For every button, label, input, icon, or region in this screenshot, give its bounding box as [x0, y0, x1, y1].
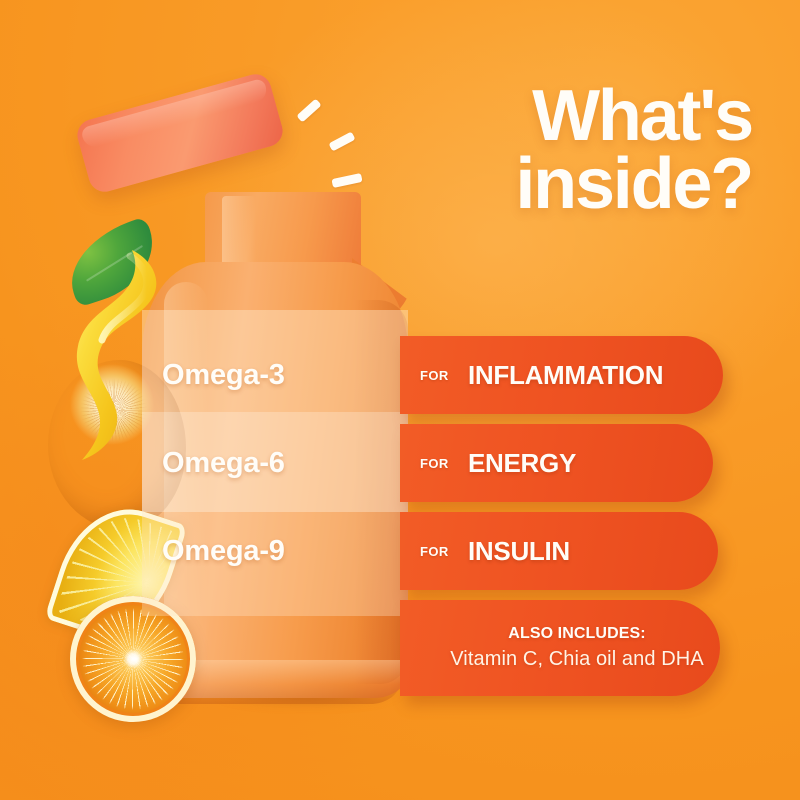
ingredient-row-3: Omega-9 — [162, 512, 400, 590]
benefit-label-3: INSULIN — [468, 536, 570, 567]
also-includes-items: Vitamin C, Chia oil and DHA — [416, 648, 704, 671]
for-label-1: FOR — [420, 368, 454, 383]
benefit-label-2: ENERGY — [468, 448, 576, 479]
benefit-pill-inflammation: FOR INFLAMMATION — [400, 336, 723, 414]
ingredient-row-2: Omega-6 — [162, 424, 400, 502]
promo-graphic: What's inside? Omega-3 Omega-6 Omega-9 F… — [0, 0, 800, 800]
also-includes-pill: ALSO INCLUDES: Vitamin C, Chia oil and D… — [400, 600, 720, 696]
also-includes-title: ALSO INCLUDES: — [474, 625, 645, 643]
benefit-pill-insulin: FOR INSULIN — [400, 512, 718, 590]
omega-label-2: Omega-6 — [162, 449, 400, 478]
ingredient-row-1: Omega-3 — [162, 336, 400, 414]
omega-label-1: Omega-3 — [162, 361, 400, 390]
ingredient-rows: Omega-3 Omega-6 Omega-9 FOR INFLAMMATION… — [0, 0, 800, 800]
benefit-pill-energy: FOR ENERGY — [400, 424, 713, 502]
for-label-3: FOR — [420, 544, 454, 559]
benefit-label-1: INFLAMMATION — [468, 360, 663, 391]
omega-label-3: Omega-9 — [162, 537, 400, 566]
for-label-2: FOR — [420, 456, 454, 471]
